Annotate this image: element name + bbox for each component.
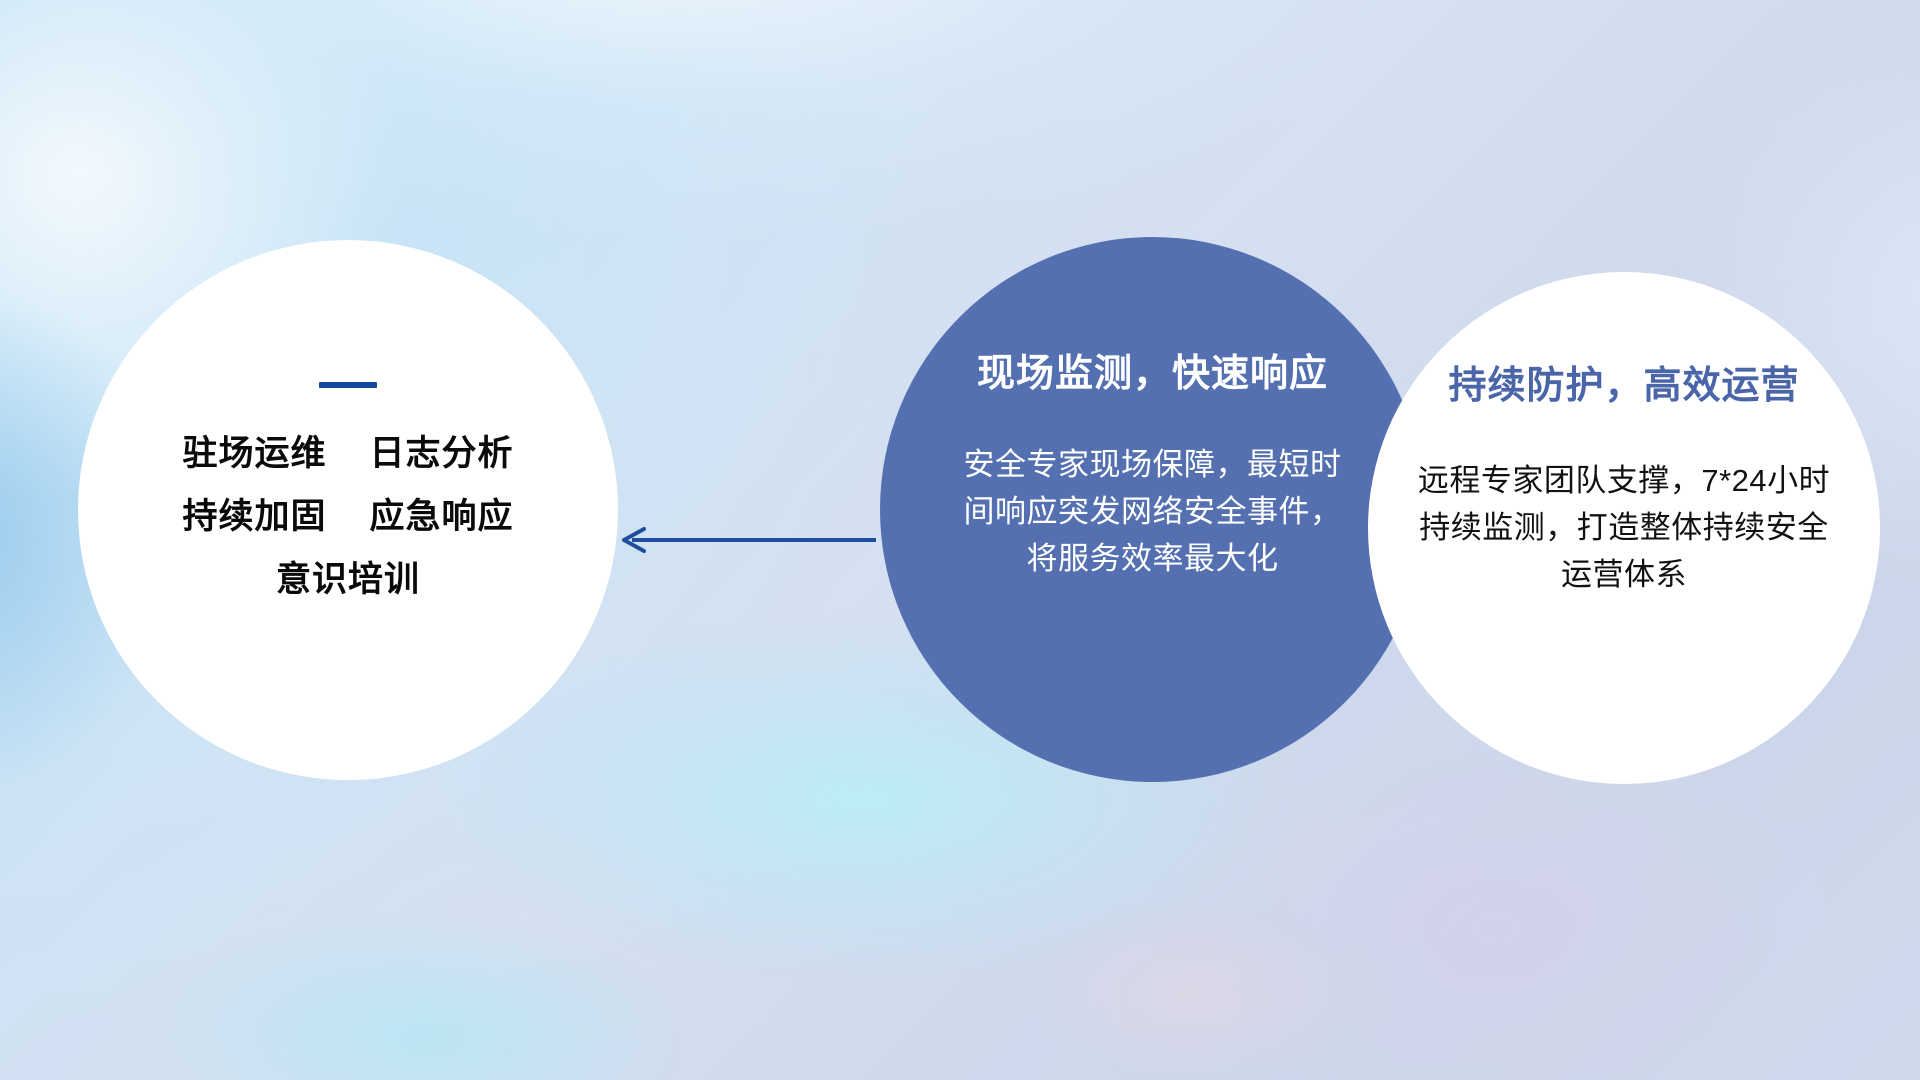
arrow-svg (610, 525, 878, 555)
onsite-monitoring-body: 安全专家现场保障，最短时间响应突发网络安全事件，将服务效率最大化 (958, 441, 1348, 582)
left-pointing-arrow (610, 525, 878, 555)
service-capabilities-circle: 驻场运维 日志分析 持续加固 应急响应 意识培训 (78, 240, 618, 780)
continuous-protection-body: 远程专家团队支撑，7*24小时持续监测，打造整体持续安全运营体系 (1409, 457, 1839, 598)
continuous-protection-title: 持续防护，高效运营 (1448, 354, 1799, 409)
slide-canvas: 驻场运维 日志分析 持续加固 应急响应 意识培训 现场监测，快速响应 安全专家现… (0, 0, 1920, 1080)
capability-list: 驻场运维 日志分析 持续加固 应急响应 意识培训 (183, 436, 514, 598)
continuous-protection-circle: 持续防护，高效运营 远程专家团队支撑，7*24小时持续监测，打造整体持续安全运营… (1368, 272, 1880, 784)
capability-line-1: 驻场运维 日志分析 (183, 436, 514, 473)
capability-line-2: 持续加固 应急响应 (183, 499, 514, 536)
accent-dash-icon (319, 382, 377, 388)
onsite-monitoring-circle: 现场监测，快速响应 安全专家现场保障，最短时间响应突发网络安全事件，将服务效率最… (880, 237, 1425, 782)
capability-line-3: 意识培训 (276, 562, 420, 599)
onsite-monitoring-title: 现场监测，快速响应 (977, 342, 1328, 397)
